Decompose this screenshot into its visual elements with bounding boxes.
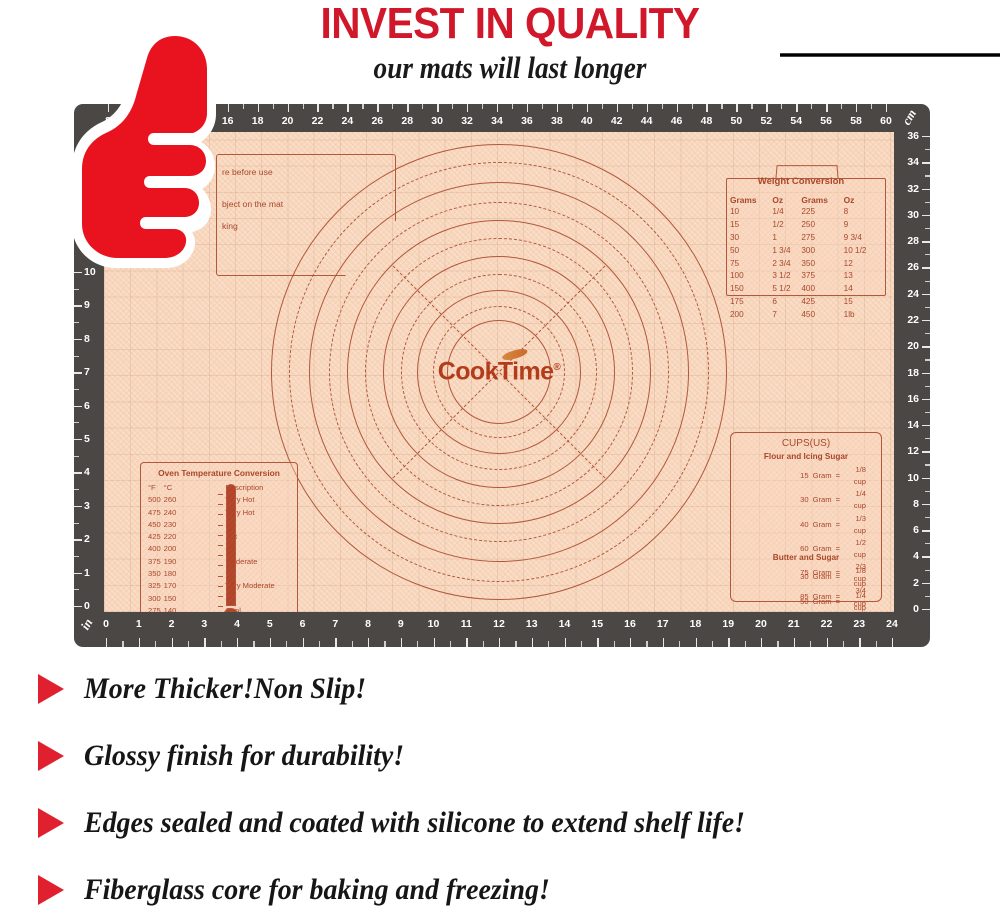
trademark-symbol: ® [553,362,560,373]
ruler-tick [74,406,82,407]
column-header: Oz [844,194,880,206]
ruler-tick [384,641,385,647]
ruler-label: 22 [309,115,325,127]
ruler-label: 7 [84,366,90,378]
table-cell: 400 [801,283,843,296]
ruler-label: 11 [457,618,475,630]
ruler-tick [922,189,930,190]
table-cell: 400 [148,543,164,555]
ruler-tick [925,307,930,308]
table-cell: 325 [148,580,164,592]
ruler-tick [392,104,393,109]
table-row: 501 3/430010 1/2 [730,245,880,258]
ruler-label: 8 [84,333,90,345]
ruler-tick [188,641,189,647]
ruler-tick [74,439,82,440]
ruler-tick [922,399,930,400]
table-cell: 150 [164,593,180,605]
ruler-tick [922,478,930,479]
ruler-tick [925,202,930,203]
ruler-tick [856,104,857,112]
table-cell: 275 [148,605,164,612]
table-row: 30Gram=1/4 cup [794,488,868,512]
feature-item: Glossy finish for durability! [38,727,428,785]
ruler-label: 8 [359,618,377,630]
ruler-tick [922,162,930,163]
ruler-tick [172,638,173,647]
ruler-tick [557,104,558,112]
table-cell: 10 1/2 [844,245,880,258]
table-cell: 240 [164,507,180,519]
feature-text: Glossy finish for durability! [84,739,404,773]
ruler-tick [437,104,438,112]
table-cell: Gram [811,590,834,612]
table-row: 151/22509 [730,219,880,232]
ruler-label: 12 [490,618,508,630]
cups-conversion-table: 30Gram=1/8 cup50Gram=1/4 cup75Gram=1/3 c… [794,565,868,612]
table-cell: 170 [164,580,180,592]
table-cell: 150 [730,283,772,296]
ruler-tick [527,104,528,112]
ruler-tick [766,104,767,112]
ruler-tick [542,104,543,109]
feature-list: More Thicker!Non Slip!Glossy finish for … [0,660,1000,924]
table-cell: 450 [148,519,164,531]
ruler-tick [777,641,778,647]
column-header: Grams [801,194,843,206]
table-cell: 8 [844,206,880,219]
table-cell: 14 [844,283,880,296]
table-cell: 260 [164,494,180,506]
triangle-bullet-icon [38,674,64,704]
cups-us-title: CUPS(US) [730,438,882,449]
ruler-tick [499,638,500,647]
ruler-tick [662,104,663,109]
table-cell: 375 [801,270,843,283]
ruler-tick [317,104,318,112]
table-row: 400200--- [148,543,278,555]
ruler-tick [74,556,79,557]
feature-text: Edges sealed and coated with silicone to… [84,806,745,840]
triangle-bullet-icon [38,875,64,905]
ruler-tick [74,523,79,524]
ruler-label: 18 [250,115,266,127]
table-row: 20074501lb [730,309,880,322]
table-cell: 200 [164,543,180,555]
ruler-label: 46 [669,115,685,127]
ruler-tick [335,638,336,647]
ruler-tick [74,339,82,340]
feature-item: Fiberglass core for baking and freezing! [38,861,585,919]
ruler-label: 4 [913,550,919,562]
table-cell: Gram [811,565,834,589]
ruler-label: 14 [907,419,919,431]
ruler-tick [452,104,453,109]
ruler-tick [925,517,930,518]
table-cell: 75 [730,257,772,270]
table-cell: 300 [148,593,164,605]
title-divider-rule [780,53,1000,57]
ruler-tick [745,641,746,647]
table-cell: 1/8 cup [842,464,868,488]
table-row: 275140Cool [148,605,278,612]
table-cell: 10 [730,206,772,219]
ruler-tick [677,104,678,112]
table-cell: 40 [794,513,810,537]
ruler-tick [155,641,156,647]
ruler-tick [532,638,533,647]
table-row: 752 3/435012 [730,257,880,270]
ruler-tick [422,104,423,109]
ruler-label: 8 [913,498,919,510]
ruler-label: 12 [907,445,919,457]
ruler-tick [794,638,795,647]
ruler-tick [922,346,930,347]
table-cell: 3 1/2 [772,270,801,283]
ruler-tick [581,641,582,647]
ruler-tick [925,149,930,150]
ruler-tick [74,539,82,540]
ruler-label: 10 [425,618,443,630]
ruler-tick [122,641,123,647]
table-row: 50Gram=1/4 cup [794,590,868,612]
ruler-tick [696,638,697,647]
table-cell: 1/4 [772,206,801,219]
ruler-tick [565,638,566,647]
ruler-tick [74,356,79,357]
ruler-tick [922,267,930,268]
ruler-label: 48 [698,115,714,127]
table-cell: 1 [772,232,801,245]
ruler-tick [332,104,333,109]
ruler-label: 4 [228,618,246,630]
ruler-tick [859,638,860,647]
ruler-tick [646,641,647,647]
ruler-tick [630,638,631,647]
thermometer-tick [218,504,223,505]
ruler-label: 26 [907,261,919,273]
ruler-tick [303,104,304,109]
oven-temperature-table: °F°CDescription500260Very Hot475240Very … [148,482,278,612]
ruler-tick [925,175,930,176]
feature-item: Edges sealed and coated with silicone to… [38,794,795,852]
table-cell: 1 3/4 [772,245,801,258]
ruler-label: 58 [848,115,864,127]
table-cell: 475 [148,507,164,519]
ruler-tick [632,104,633,109]
ruler-label: 54 [788,115,804,127]
ruler-tick [781,104,782,109]
ruler-tick [74,289,79,290]
ruler-label: 9 [84,299,90,311]
table-cell: 50 [794,590,811,612]
table-cell: 30 [794,488,810,512]
ruler-tick [925,491,930,492]
table-cell: 1/2 [772,219,801,232]
ruler-tick [922,530,930,531]
ruler-label: 24 [907,288,919,300]
table-row: 325170Very Moderate [148,580,278,592]
ruler-tick [663,638,664,647]
feature-text: More Thicker!Non Slip! [84,672,366,706]
ruler-label: 2 [163,618,181,630]
ruler-right-cm: 024681012141618202224262830323436 [894,104,930,647]
ruler-tick [811,104,812,109]
ruler-label: 28 [907,235,919,247]
ruler-label: 23 [850,618,868,630]
ruler-tick [827,638,828,647]
ruler-tick [614,641,615,647]
table-cell: 1/4 cup [842,488,868,512]
ruler-tick [925,254,930,255]
ruler-tick [368,638,369,647]
feature-item: More Thicker!Non Slip! [38,660,387,718]
ruler-tick [925,596,930,597]
ruler-tick [303,638,304,647]
ruler-tick [826,104,827,112]
ruler-tick [483,641,484,647]
ruler-tick [74,506,82,507]
table-row: 350180--- [148,568,278,580]
table-cell: Gram [811,513,834,537]
table-row: 3012759 3/4 [730,232,880,245]
thermometer-tick [218,596,223,597]
ruler-tick [922,451,930,452]
ruler-tick [572,104,573,109]
table-row: 425220Hot [148,531,278,543]
table-cell: 5 1/2 [772,283,801,296]
ruler-tick [482,104,483,109]
table-row: 15Gram=1/8 cup [794,464,868,488]
ruler-tick [450,641,451,647]
weight-conversion-table: GramsOzGramsOz101/42258151/225093012759 … [730,194,880,322]
ruler-tick [347,104,348,112]
ruler-tick [925,359,930,360]
ruler-label: 56 [818,115,834,127]
thermometer-tick [218,576,223,577]
ruler-tick [922,425,930,426]
column-header: °C [164,482,180,494]
table-cell: 15 [794,464,810,488]
table-cell: 100 [730,270,772,283]
table-cell: 30 [794,565,811,589]
ruler-tick [204,638,205,647]
table-cell: Gram [811,488,834,512]
table-cell: 425 [801,296,843,309]
ruler-label: 0 [913,603,919,615]
table-row: 300150--- [148,593,278,605]
ruler-tick [679,641,680,647]
ruler-label: 38 [549,115,565,127]
ruler-tick [74,422,79,423]
ruler-label: 22 [818,618,836,630]
ruler-label: 3 [195,618,213,630]
ruler-label: 9 [392,618,410,630]
ruler-tick [721,104,722,109]
table-row: 475240Very Hot [148,507,278,519]
ruler-label: 44 [639,115,655,127]
ruler-label: 40 [579,115,595,127]
ruler-tick [515,641,516,647]
ruler-label: 1 [84,567,90,579]
table-row: 175642515 [730,296,880,309]
ruler-label: 10 [907,472,919,484]
ruler-tick [925,464,930,465]
ruler-tick [362,104,363,109]
brand-logo: CookTime® [438,358,560,387]
ruler-tick [74,573,82,574]
ruler-tick [74,372,82,373]
triangle-bullet-icon [38,808,64,838]
ruler-label: 24 [339,115,355,127]
thermometer-tick [218,555,223,556]
ruler-tick [712,641,713,647]
ruler-tick [647,104,648,112]
ruler-tick [925,570,930,571]
ruler-tick [377,104,378,112]
ruler-tick [221,641,222,647]
ruler-tick [74,456,79,457]
ruler-tick [273,104,274,109]
ruler-tick [728,638,729,647]
ruler-tick [286,641,287,647]
ruler-tick [319,641,320,647]
table-cell: = [834,513,842,537]
table-cell: 375 [148,556,164,568]
ruler-tick [843,641,844,647]
ruler-tick [497,104,498,112]
thermometer-tick [218,565,223,566]
ruler-label: 20 [752,618,770,630]
ruler-label: 6 [913,524,919,536]
ruler-label: 20 [907,340,919,352]
cups-section-heading: Butter and Sugar [730,553,882,562]
ruler-bottom-inches: 0123456789101112131415161718192021222324… [74,612,930,647]
ruler-label: 2 [84,533,90,545]
ruler-label: 2 [913,577,919,589]
ruler-label: 21 [785,618,803,630]
table-cell: 200 [730,309,772,322]
ruler-label: 28 [399,115,415,127]
thermometer-tick [218,606,223,607]
table-cell: 450 [801,309,843,322]
ruler-label: 20 [280,115,296,127]
ruler-tick [796,104,797,112]
ruler-tick [253,641,254,647]
table-cell: 500 [148,494,164,506]
table-cell: Gram [811,464,834,488]
ruler-label: 36 [907,130,919,142]
page-title: INVEST IN QUALITY [252,2,767,47]
ruler-label: 17 [654,618,672,630]
ruler-tick [922,320,930,321]
ruler-label: 34 [907,156,919,168]
ruler-tick [925,333,930,334]
ruler-tick [925,281,930,282]
ruler-label: 5 [261,618,279,630]
ruler-label: 34 [489,115,505,127]
ruler-tick [139,638,140,647]
ruler-tick [871,104,872,109]
weight-conversion-title: Weight Conversion [726,176,876,187]
ruler-tick [761,638,762,647]
thermometer-tick [218,535,223,536]
ruler-tick [841,104,842,109]
table-cell: 425 [148,531,164,543]
ruler-tick [876,641,877,647]
table-row: 101/42258 [730,206,880,219]
table-cell: 50 [730,245,772,258]
thermometer-icon [223,484,239,612]
ruler-tick [922,583,930,584]
ruler-label: 7 [326,618,344,630]
ruler-label: 32 [907,183,919,195]
ruler-tick [922,609,930,610]
ruler-tick [922,556,930,557]
ruler-tick [925,543,930,544]
table-cell: 1lb [844,309,880,322]
table-row: 1003 1/237513 [730,270,880,283]
ruler-label: 5 [84,433,90,445]
table-cell: 140 [164,605,180,612]
ruler-label: 18 [907,367,919,379]
ruler-tick [597,638,598,647]
table-cell: 1/4 cup [842,590,868,612]
table-cell: = [834,565,842,589]
table-cell: 9 3/4 [844,232,880,245]
table-cell: 13 [844,270,880,283]
table-cell: = [834,590,842,612]
table-cell: 9 [844,219,880,232]
thermometer-tick [218,545,223,546]
ruler-tick [810,641,811,647]
ruler-tick [602,104,603,109]
triangle-bullet-icon [38,741,64,771]
table-row: 450230--- [148,519,278,531]
ruler-tick [407,104,408,112]
ruler-tick [237,638,238,647]
ruler-label: 15 [588,618,606,630]
table-cell: 12 [844,257,880,270]
ruler-tick [587,104,588,112]
table-cell: = [834,488,842,512]
table-cell: 225 [801,206,843,219]
ruler-label: 30 [907,209,919,221]
column-header: Oz [772,194,801,206]
table-cell: 15 [730,219,772,232]
table-cell: 350 [148,568,164,580]
table-cell: 1/8 cup [842,565,868,589]
ruler-tick [925,228,930,229]
ruler-tick [74,489,79,490]
ruler-tick [434,638,435,647]
ruler-tick [922,294,930,295]
ruler-label: 22 [907,314,919,326]
table-cell: 6 [772,296,801,309]
ruler-tick [922,241,930,242]
ruler-label: 6 [84,400,90,412]
ruler-label: 16 [621,618,639,630]
ruler-tick [466,638,467,647]
ruler-tick [736,104,737,112]
ruler-label: 36 [519,115,535,127]
ruler-tick [74,389,79,390]
table-cell: = [834,464,842,488]
thermometer-tick [218,525,223,526]
table-row: 1505 1/240014 [730,283,880,296]
ruler-label: 30 [429,115,445,127]
ruler-label: 0 [84,600,90,612]
